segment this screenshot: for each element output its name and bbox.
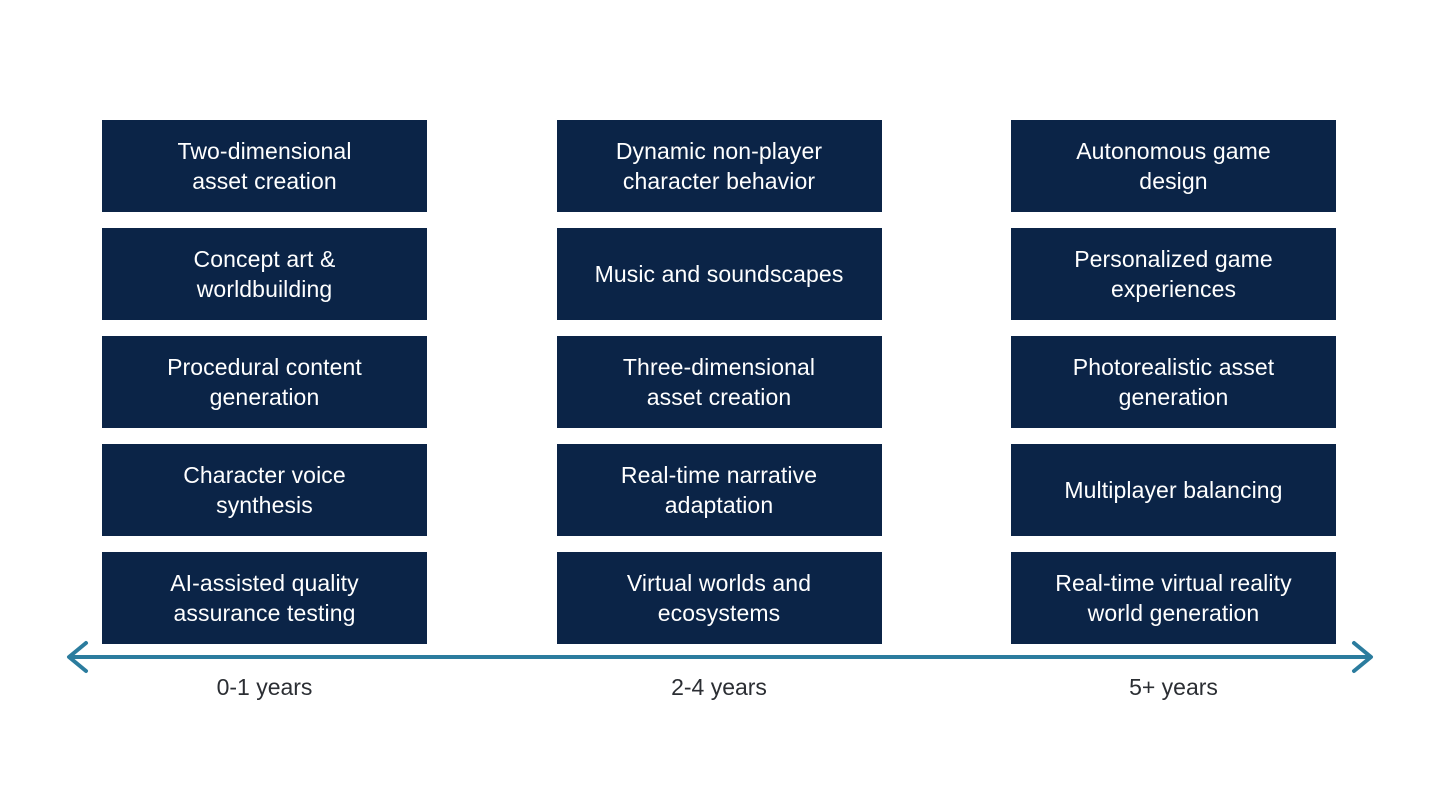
- timeline-column-mid-term: Dynamic non-player character behavior Mu…: [557, 120, 882, 644]
- timeline-card[interactable]: Two-dimensional asset creation: [102, 120, 427, 212]
- timeline-card-label: Autonomous game design: [1076, 136, 1271, 196]
- timeline-card-label: Music and soundscapes: [595, 259, 844, 289]
- axis-label-mid-term: 2-4 years: [557, 670, 882, 704]
- timeline-card[interactable]: Three-dimensional asset creation: [557, 336, 882, 428]
- timeline-card[interactable]: Character voice synthesis: [102, 444, 427, 536]
- timeline-card-label: Two-dimensional asset creation: [177, 136, 351, 196]
- timeline-card-label: Three-dimensional asset creation: [623, 352, 815, 412]
- timeline-card[interactable]: Concept art & worldbuilding: [102, 228, 427, 320]
- timeline-card[interactable]: Procedural content generation: [102, 336, 427, 428]
- timeline-card[interactable]: Multiplayer balancing: [1011, 444, 1336, 536]
- timeline-card-label: Real-time narrative adaptation: [621, 460, 817, 520]
- timeline-card-label: Character voice synthesis: [183, 460, 346, 520]
- timeline-card-label: Multiplayer balancing: [1064, 475, 1282, 505]
- axis-label-long-term: 5+ years: [1011, 670, 1336, 704]
- timeline-card[interactable]: Real-time narrative adaptation: [557, 444, 882, 536]
- timeline-card-label: Real-time virtual reality world generati…: [1055, 568, 1291, 628]
- timeline-column-long-term: Autonomous game design Personalized game…: [1011, 120, 1336, 644]
- axis-label-near-term: 0-1 years: [102, 670, 427, 704]
- timeline-columns: Two-dimensional asset creation Concept a…: [102, 120, 1336, 644]
- timeline-card[interactable]: Dynamic non-player character behavior: [557, 120, 882, 212]
- timeline-card[interactable]: Photorealistic asset generation: [1011, 336, 1336, 428]
- timeline-card[interactable]: Personalized game experiences: [1011, 228, 1336, 320]
- timeline-card[interactable]: Music and soundscapes: [557, 228, 882, 320]
- timeline-card-label: AI-assisted quality assurance testing: [170, 568, 359, 628]
- timeline-card[interactable]: Real-time virtual reality world generati…: [1011, 552, 1336, 644]
- timeline-card-label: Photorealistic asset generation: [1073, 352, 1274, 412]
- timeline-card-label: Personalized game experiences: [1074, 244, 1273, 304]
- timeline-card-label: Procedural content generation: [167, 352, 362, 412]
- timeline-column-near-term: Two-dimensional asset creation Concept a…: [102, 120, 427, 644]
- timeline-card[interactable]: Virtual worlds and ecosystems: [557, 552, 882, 644]
- timeline-card-label: Dynamic non-player character behavior: [616, 136, 822, 196]
- timeline-canvas: Two-dimensional asset creation Concept a…: [0, 0, 1440, 810]
- timeline-card[interactable]: AI-assisted quality assurance testing: [102, 552, 427, 644]
- timeline-card[interactable]: Autonomous game design: [1011, 120, 1336, 212]
- timeline-card-label: Virtual worlds and ecosystems: [627, 568, 811, 628]
- timeline-card-label: Concept art & worldbuilding: [194, 244, 336, 304]
- timeline-axis-labels: 0-1 years 2-4 years 5+ years: [102, 670, 1336, 704]
